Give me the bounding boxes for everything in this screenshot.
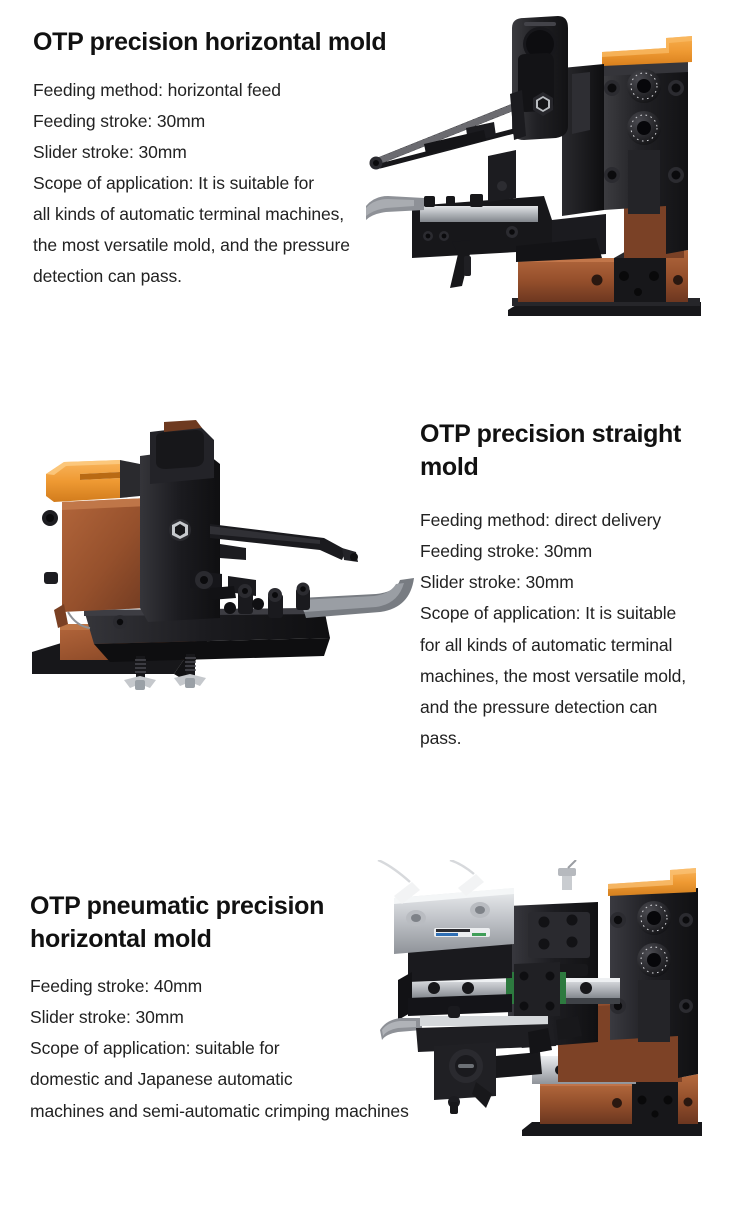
spec-line: Scope of application: It is suitable bbox=[420, 598, 740, 629]
tab-upper bbox=[220, 544, 246, 560]
section-horizontal-mold: OTP precision horizontal mold Feeding me… bbox=[0, 0, 750, 395]
pneumatic-tube-left bbox=[378, 860, 410, 882]
spec-line: detection can pass. bbox=[33, 261, 393, 292]
rail-carriage-block bbox=[514, 962, 560, 1018]
adjustment-dial-upper[interactable] bbox=[627, 69, 661, 103]
bolt-hole-icon bbox=[664, 1096, 673, 1105]
base-plate bbox=[522, 1122, 702, 1136]
section-pneumatic-mold: OTP pneumatic precision horizontal mold … bbox=[0, 855, 750, 1206]
housing-pin bbox=[450, 1102, 458, 1114]
page-title-straight: OTP precision straight mold bbox=[420, 418, 740, 483]
spec-line: machines, the most versatile mold, bbox=[420, 661, 740, 692]
slide-rail-block bbox=[628, 150, 660, 214]
body-bolt-center bbox=[200, 576, 208, 584]
horizontal-mold-text: OTP precision horizontal mold Feeding me… bbox=[33, 26, 393, 292]
main-copper-panel bbox=[62, 498, 148, 612]
carriage-bolt bbox=[520, 972, 529, 981]
page-title-horizontal: OTP precision horizontal mold bbox=[33, 26, 393, 59]
straight-mold-illustration bbox=[24, 412, 424, 712]
spec-line: the most versatile mold, and the pressur… bbox=[33, 230, 393, 261]
otp-precision-straight-mold-photo bbox=[24, 412, 424, 712]
bracket-block bbox=[528, 1028, 552, 1054]
adjustment-dial-lower[interactable] bbox=[637, 943, 671, 977]
bolt-hole-icon bbox=[638, 1096, 647, 1105]
section-straight-mold: OTP precision straight mold Feeding meth… bbox=[0, 400, 750, 800]
bolt-hole-icon bbox=[619, 271, 629, 281]
spec-line: Scope of application: It is suitable for bbox=[33, 168, 393, 199]
product-spec-sheet: OTP precision horizontal mold Feeding me… bbox=[0, 0, 750, 1206]
spec-line: Slider stroke: 30mm bbox=[420, 567, 740, 598]
bolt-hole-icon bbox=[649, 271, 659, 281]
steel-slide-plate bbox=[420, 206, 538, 222]
lever-pin bbox=[464, 256, 471, 276]
cylinder-label-accent bbox=[472, 933, 486, 936]
top-fitting bbox=[558, 860, 576, 890]
hex-bolt-icon bbox=[169, 519, 191, 541]
straight-mold-specs: Feeding method: direct delivery Feeding … bbox=[420, 505, 740, 754]
upper-bracket bbox=[556, 1016, 582, 1040]
pedal-arm bbox=[420, 1016, 548, 1026]
horizontal-mold-illustration bbox=[366, 10, 716, 340]
page-title-pneumatic: OTP pneumatic precision horizontal mold bbox=[30, 890, 400, 955]
carriage-face bbox=[528, 912, 590, 958]
arm-stud bbox=[448, 1006, 460, 1018]
clamp-back-block bbox=[120, 460, 140, 498]
housing-extension bbox=[496, 1052, 542, 1078]
carriage-bolt bbox=[546, 1002, 555, 1011]
bracket-bolt bbox=[497, 181, 507, 191]
platform-notch bbox=[210, 586, 236, 600]
bracket-mid bbox=[488, 150, 516, 202]
bolt-hole-icon bbox=[673, 275, 683, 285]
pneumatic-tube-right bbox=[450, 860, 474, 874]
spec-line: Feeding stroke: 30mm bbox=[420, 536, 740, 567]
spec-line: Feeding method: horizontal feed bbox=[33, 75, 393, 106]
side-knob-lower[interactable] bbox=[44, 572, 58, 584]
horizontal-mold-specs: Feeding method: horizontal feed Feeding … bbox=[33, 75, 393, 293]
pneumatic-cylinder bbox=[394, 874, 514, 954]
cylinder-label-brand bbox=[436, 933, 458, 936]
bolt-hole-icon bbox=[684, 1098, 693, 1107]
bolt-hole-icon bbox=[612, 1098, 622, 1108]
bolt-hole-icon bbox=[592, 275, 603, 286]
spec-line: Feeding stroke: 30mm bbox=[33, 106, 393, 137]
straight-mold-text: OTP precision straight mold Feeding meth… bbox=[420, 418, 740, 754]
otp-pneumatic-precision-horizontal-mold-photo bbox=[372, 860, 750, 1160]
pneumatic-mold-text: OTP pneumatic precision horizontal mold … bbox=[30, 890, 400, 1127]
cylinder-label-text bbox=[436, 929, 470, 932]
orange-clamp bbox=[46, 460, 120, 502]
spec-line: and the pressure detection can bbox=[420, 692, 740, 723]
knob-slot bbox=[458, 1064, 474, 1068]
spec-line: pass. bbox=[420, 723, 740, 754]
bolt-hole-icon bbox=[634, 288, 642, 296]
carriage-bolt bbox=[546, 972, 555, 981]
spec-line: all kinds of automatic terminal machines… bbox=[33, 199, 393, 230]
pneumatic-mold-illustration bbox=[372, 860, 750, 1160]
carriage-bolt bbox=[520, 1002, 529, 1011]
spec-line: for all kinds of automatic terminal bbox=[420, 630, 740, 661]
spec-line: Feeding method: direct delivery bbox=[420, 505, 740, 536]
otp-precision-horizontal-mold-photo bbox=[366, 10, 716, 340]
side-knob-upper-center bbox=[46, 514, 54, 522]
head-slot bbox=[524, 22, 556, 26]
adjustment-dial-upper[interactable] bbox=[637, 901, 671, 935]
mid-column-face bbox=[572, 72, 590, 134]
slide-rail-block bbox=[638, 980, 670, 1042]
rotary-knob-housing bbox=[434, 1042, 496, 1114]
bolt-hole-icon bbox=[651, 1110, 658, 1117]
upper-housing-cavity bbox=[156, 430, 204, 469]
adjustment-dial-lower[interactable] bbox=[627, 111, 661, 145]
spec-line: Slider stroke: 30mm bbox=[33, 137, 393, 168]
cantilever-blade bbox=[300, 578, 414, 618]
platform-bolt-center bbox=[117, 619, 123, 625]
